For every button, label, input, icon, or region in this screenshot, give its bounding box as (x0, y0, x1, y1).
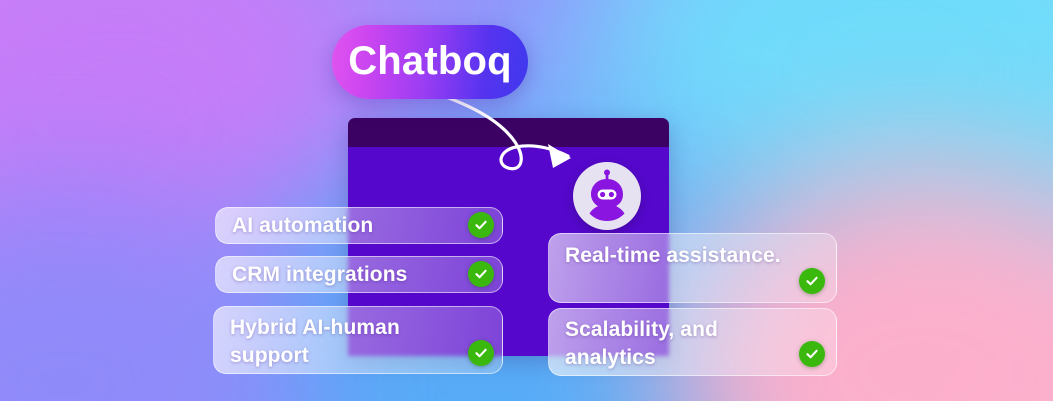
check-circle-icon (468, 340, 494, 366)
feature-card-label: Real-time assistance. (565, 242, 820, 270)
feature-card-label: Scalability, and analytics (565, 316, 820, 371)
chatbot-avatar-icon[interactable] (573, 162, 641, 230)
feature-card-label: Hybrid AI-human support (230, 314, 486, 369)
check-glyph-icon (805, 347, 819, 361)
feature-card-crm-integrations[interactable]: CRM integrations (215, 256, 503, 293)
robot-glyph-icon (578, 167, 636, 225)
check-glyph-icon (474, 346, 488, 360)
feature-card-real-time-assistance[interactable]: Real-time assistance. (548, 233, 837, 303)
check-glyph-icon (474, 267, 488, 281)
check-glyph-icon (474, 218, 488, 232)
check-glyph-icon (805, 274, 819, 288)
check-circle-icon (799, 341, 825, 367)
check-circle-icon (799, 268, 825, 294)
feature-card-label: AI automation (232, 212, 486, 240)
feature-card-ai-automation[interactable]: AI automation (215, 207, 503, 244)
chatboq-feature-banner: Chatboq AI automation CRM integrations H… (0, 0, 1053, 401)
check-circle-icon (468, 261, 494, 287)
chat-window-titlebar (348, 118, 669, 147)
brand-logo-pill[interactable]: Chatboq (332, 25, 528, 99)
brand-logo-label: Chatboq (348, 41, 512, 84)
check-circle-icon (468, 212, 494, 238)
feature-card-scalability-and-analytics[interactable]: Scalability, and analytics (548, 308, 837, 376)
feature-card-hybrid-ai-human-support[interactable]: Hybrid AI-human support (213, 306, 503, 374)
feature-card-label: CRM integrations (232, 261, 486, 289)
